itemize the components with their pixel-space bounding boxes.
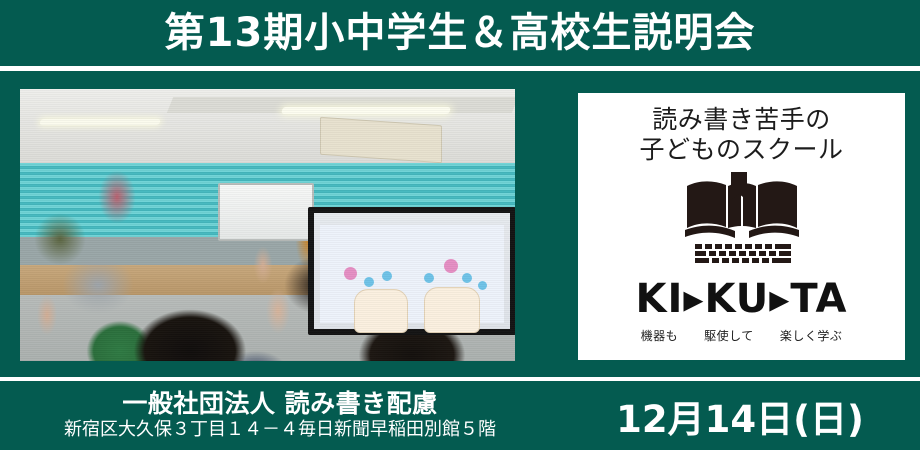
classroom-photo	[20, 89, 515, 361]
organization-block: 一般社団法人 読み書き配慮 新宿区大久保３丁目１４－４毎日新聞早稲田別館５階	[0, 390, 560, 441]
organization-address: 新宿区大久保３丁目１４－４毎日新聞早稲田別館５階	[0, 420, 560, 441]
footer-band: 一般社団法人 読み書き配慮 新宿区大久保３丁目１４－４毎日新聞早稲田別館５階 1…	[0, 381, 920, 450]
logo-heading-line-2: 子どものスクール	[639, 135, 843, 165]
whiteboard	[218, 183, 314, 241]
slide-dot-blue-1	[364, 277, 374, 287]
ceiling-light-right	[281, 107, 451, 114]
logo-tagline-part-1: 機器も	[641, 327, 679, 344]
slide-dot-blue-3	[424, 273, 434, 283]
slide-hand-left	[354, 289, 408, 333]
poster-root: 第13期小中学生＆高校生説明会 読み書き苦手	[0, 0, 920, 450]
slide-dot-blue-5	[478, 281, 487, 290]
title-band: 第13期小中学生＆高校生説明会	[0, 0, 920, 66]
slide-hand-right	[424, 287, 480, 333]
page-title: 第13期小中学生＆高校生説明会	[165, 13, 756, 53]
logo-tagline-part-2: 駆使して	[704, 327, 754, 344]
open-book-keyboard-icon	[679, 170, 805, 271]
ceiling-light-left	[39, 119, 161, 125]
slide-dot-blue-2	[382, 271, 392, 281]
logo-tagline: 機器も 駆使して 楽しく学ぶ	[641, 327, 843, 344]
projector-screen	[308, 207, 515, 335]
event-date: 12月14日(日)	[560, 389, 920, 443]
divider-top	[0, 66, 920, 71]
logo-wordmark: KI▸KU▸TA	[636, 279, 848, 319]
slide-dot-pink-right	[444, 259, 458, 273]
organization-name: 一般社団法人 読み書き配慮	[0, 390, 560, 418]
slide-dot-blue-4	[462, 273, 472, 283]
logo-heading-line-1: 読み書き苦手の	[639, 105, 843, 135]
logo-tagline-part-3: 楽しく学ぶ	[780, 327, 843, 344]
school-logo-card: 読み書き苦手の 子どものスクール	[578, 93, 905, 360]
logo-heading: 読み書き苦手の 子どものスクール	[639, 105, 843, 164]
slide-dot-pink-left	[344, 267, 357, 280]
projected-slide	[320, 225, 504, 323]
